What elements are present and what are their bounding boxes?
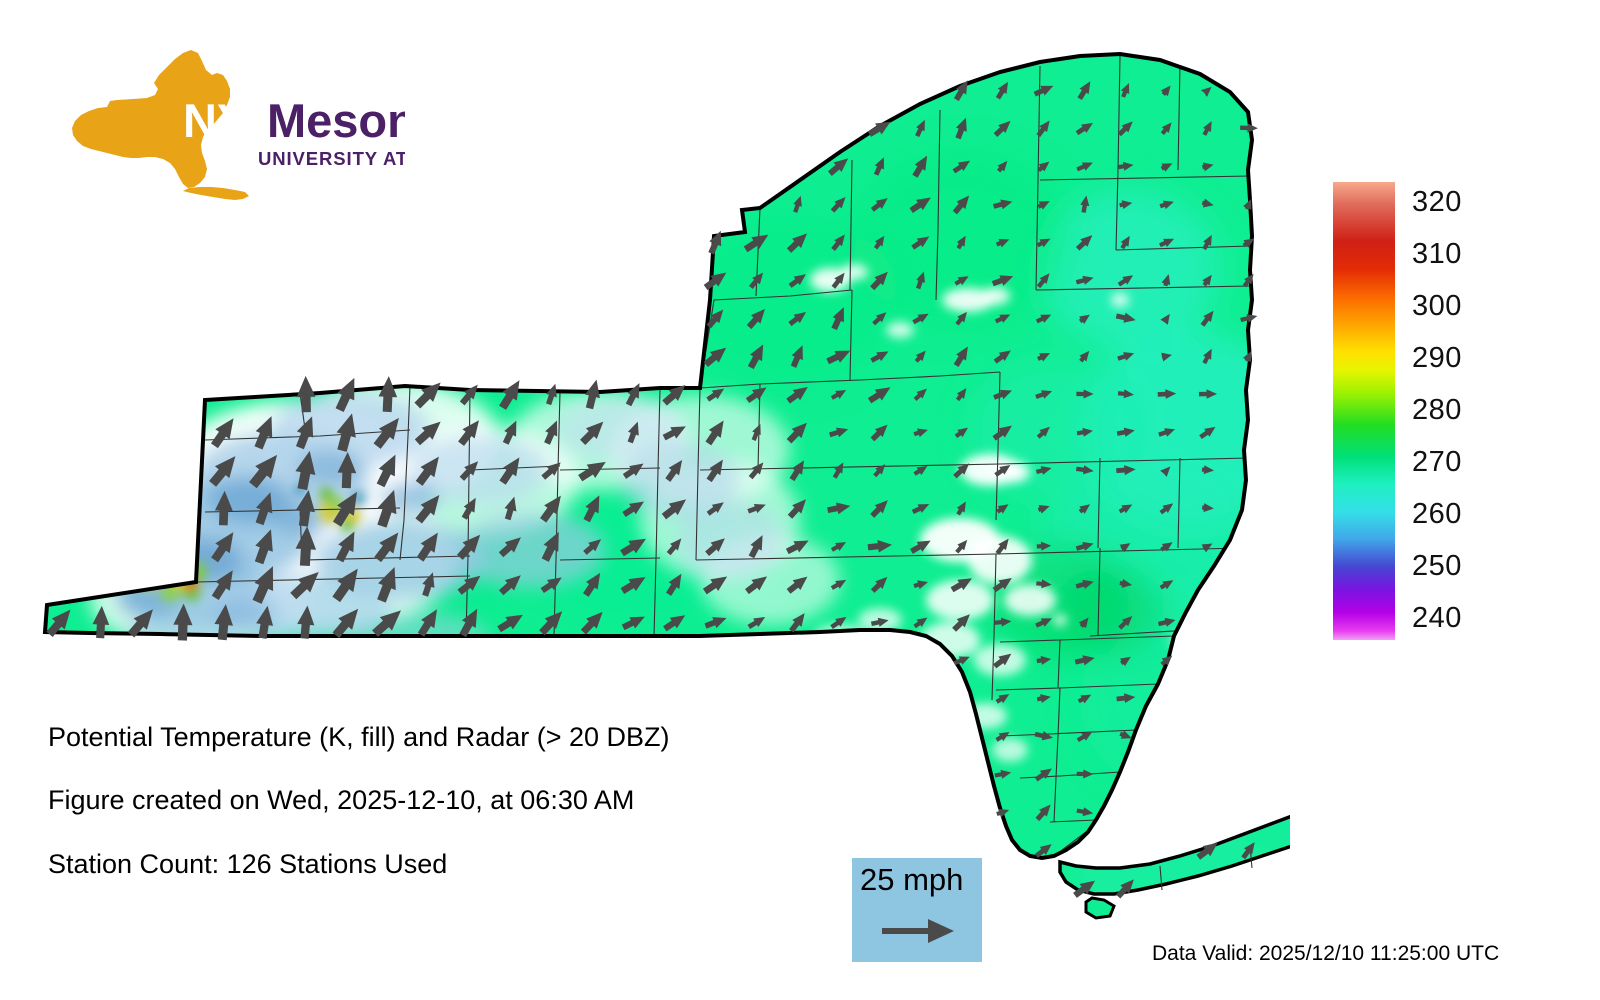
colorbar-tick-310: 310 — [1412, 240, 1462, 269]
wind-legend-arrow-icon — [880, 914, 958, 948]
colorbar-tick-290: 290 — [1412, 344, 1462, 373]
figure-title: Potential Temperature (K, fill) and Rada… — [48, 722, 670, 753]
figure-created-text: Figure created on Wed, 2025-12-10, at 06… — [48, 785, 634, 816]
station-count-text: Station Count: 126 Stations Used — [48, 849, 447, 880]
wind-speed-legend: 25 mph — [852, 858, 982, 962]
colorbar-container — [1333, 182, 1395, 640]
colorbar-tick-270: 270 — [1412, 448, 1462, 477]
colorbar-tick-300: 300 — [1412, 292, 1462, 321]
potential-temperature-colorbar — [1333, 182, 1395, 640]
colorbar-tick-260: 260 — [1412, 500, 1462, 529]
colorbar-tick-250: 250 — [1412, 552, 1462, 581]
colorbar-tick-280: 280 — [1412, 396, 1462, 425]
new-york-state-map — [0, 0, 1290, 960]
data-valid-timestamp: Data Valid: 2025/12/10 11:25:00 UTC — [1152, 942, 1499, 966]
colorbar-tick-320: 320 — [1412, 188, 1462, 217]
weather-map-panel — [0, 0, 1290, 960]
wind-legend-label: 25 mph — [860, 862, 963, 898]
colorbar-tick-240: 240 — [1412, 604, 1462, 633]
